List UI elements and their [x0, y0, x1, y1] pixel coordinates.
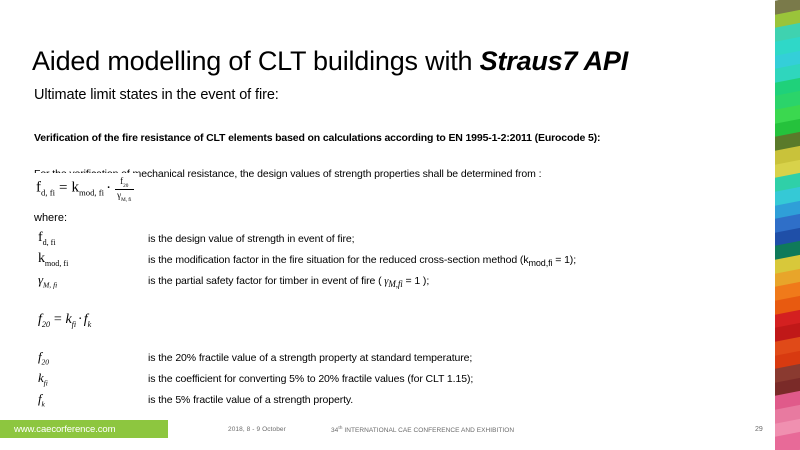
decorative-color-strip	[775, 0, 800, 450]
definition-text-tail: = 1);	[552, 254, 576, 266]
definition-symbol: f20	[38, 349, 49, 367]
formula1-lhs-subscript: d, fi	[41, 188, 55, 198]
page-title-main: Aided modelling of CLT buildings with	[32, 46, 480, 76]
definition-inline-symbol-subscript: M,fi	[388, 279, 402, 289]
definition-symbol: kmod, fi	[38, 251, 68, 268]
definition-text-main: is the modification factor in the fire s…	[148, 254, 528, 266]
definition-symbol: fd, fi	[38, 230, 56, 247]
formula1-denominator: γM, fi	[115, 190, 133, 203]
formula1-dot: ·	[106, 180, 111, 196]
formula1-numerator-subscript: 20	[123, 183, 128, 189]
definition-text: is the design value of strength in event…	[148, 233, 354, 245]
page-title: Aided modelling of CLT buildings with St…	[32, 46, 732, 77]
definition-text-subscript: mod,fi	[528, 258, 552, 268]
definition-row: f20 is the 20% fractile value of a stren…	[34, 349, 734, 370]
page-title-emphasis: Straus7 API	[480, 46, 628, 76]
definition-text: is the partial safety factor for timber …	[148, 275, 429, 289]
formula1-denominator-subscript: M, fi	[121, 197, 131, 203]
definition-text-main: is the partial safety factor for timber …	[148, 275, 384, 287]
definition-text-tail: = 1 );	[403, 275, 429, 287]
definition-symbol-subscript: mod, fi	[45, 259, 68, 268]
footer-conference-title: INTERNATIONAL CAE CONFERENCE AND EXHIBIT…	[343, 427, 515, 434]
footer-page-number: 29	[755, 426, 763, 433]
definition-symbol: γM, fi	[38, 272, 57, 290]
definition-symbol-base: k	[38, 251, 45, 266]
formula1-factor: k	[71, 180, 79, 196]
definition-row: γM, fi is the partial safety factor for …	[34, 272, 734, 293]
definition-row: fk is the 5% fractile value of a strengt…	[34, 391, 734, 412]
formula2-factor-subscript: fi	[72, 320, 77, 329]
formula1-numerator: f20	[115, 176, 133, 190]
definition-text: is the 5% fractile value of a strength p…	[148, 394, 353, 406]
definition-symbol-subscript: M, fi	[43, 281, 57, 290]
definition-symbol-subscript: k	[42, 400, 45, 409]
definition-text: is the 20% fractile value of a strength …	[148, 352, 472, 364]
formula2-rhs-subscript: k	[88, 320, 92, 329]
footer-conference-name: 34th INTERNATIONAL CAE CONFERENCE AND EX…	[331, 426, 514, 434]
formula2-lhs-subscript: 20	[42, 320, 50, 329]
definition-text: is the modification factor in the fire s…	[148, 254, 576, 268]
footer-date: 2018, 8 - 9 October	[228, 426, 286, 433]
definition-list-first: fd, fi is the design value of strength i…	[34, 230, 734, 293]
formula2-equals: =	[53, 312, 62, 327]
definition-symbol: kfi	[38, 370, 48, 388]
definition-symbol-subscript: d, fi	[43, 238, 56, 247]
formula1-equals: =	[59, 180, 67, 196]
definition-row: fd, fi is the design value of strength i…	[34, 230, 734, 251]
footer-website-url[interactable]: www.caecorference.com	[14, 424, 115, 435]
formula2-dot: ·	[78, 312, 82, 327]
definition-symbol-subscript: fi	[44, 379, 48, 388]
formula-design-strength: fd, fi=kmod, fi· f20 γM, fi	[32, 173, 138, 203]
definition-symbol: fk	[38, 391, 45, 409]
formula1-factor-subscript: mod, fi	[79, 188, 104, 198]
definition-row: kfi is the coefficient for converting 5%…	[34, 370, 734, 391]
definition-text: is the coefficient for converting 5% to …	[148, 373, 473, 385]
definition-symbol-subscript: 20	[42, 358, 50, 367]
definition-row: kmod, fi is the modification factor in t…	[34, 251, 734, 272]
formula1-fraction: f20 γM, fi	[115, 176, 133, 203]
where-label: where:	[34, 212, 67, 224]
verification-paragraph: Verification of the fire resistance of C…	[34, 131, 752, 146]
slide-subtitle: Ultimate limit states in the event of fi…	[34, 87, 279, 103]
formula-f20: f20=kfi·fk	[38, 312, 91, 329]
definition-list-second: f20 is the 20% fractile value of a stren…	[34, 349, 734, 412]
